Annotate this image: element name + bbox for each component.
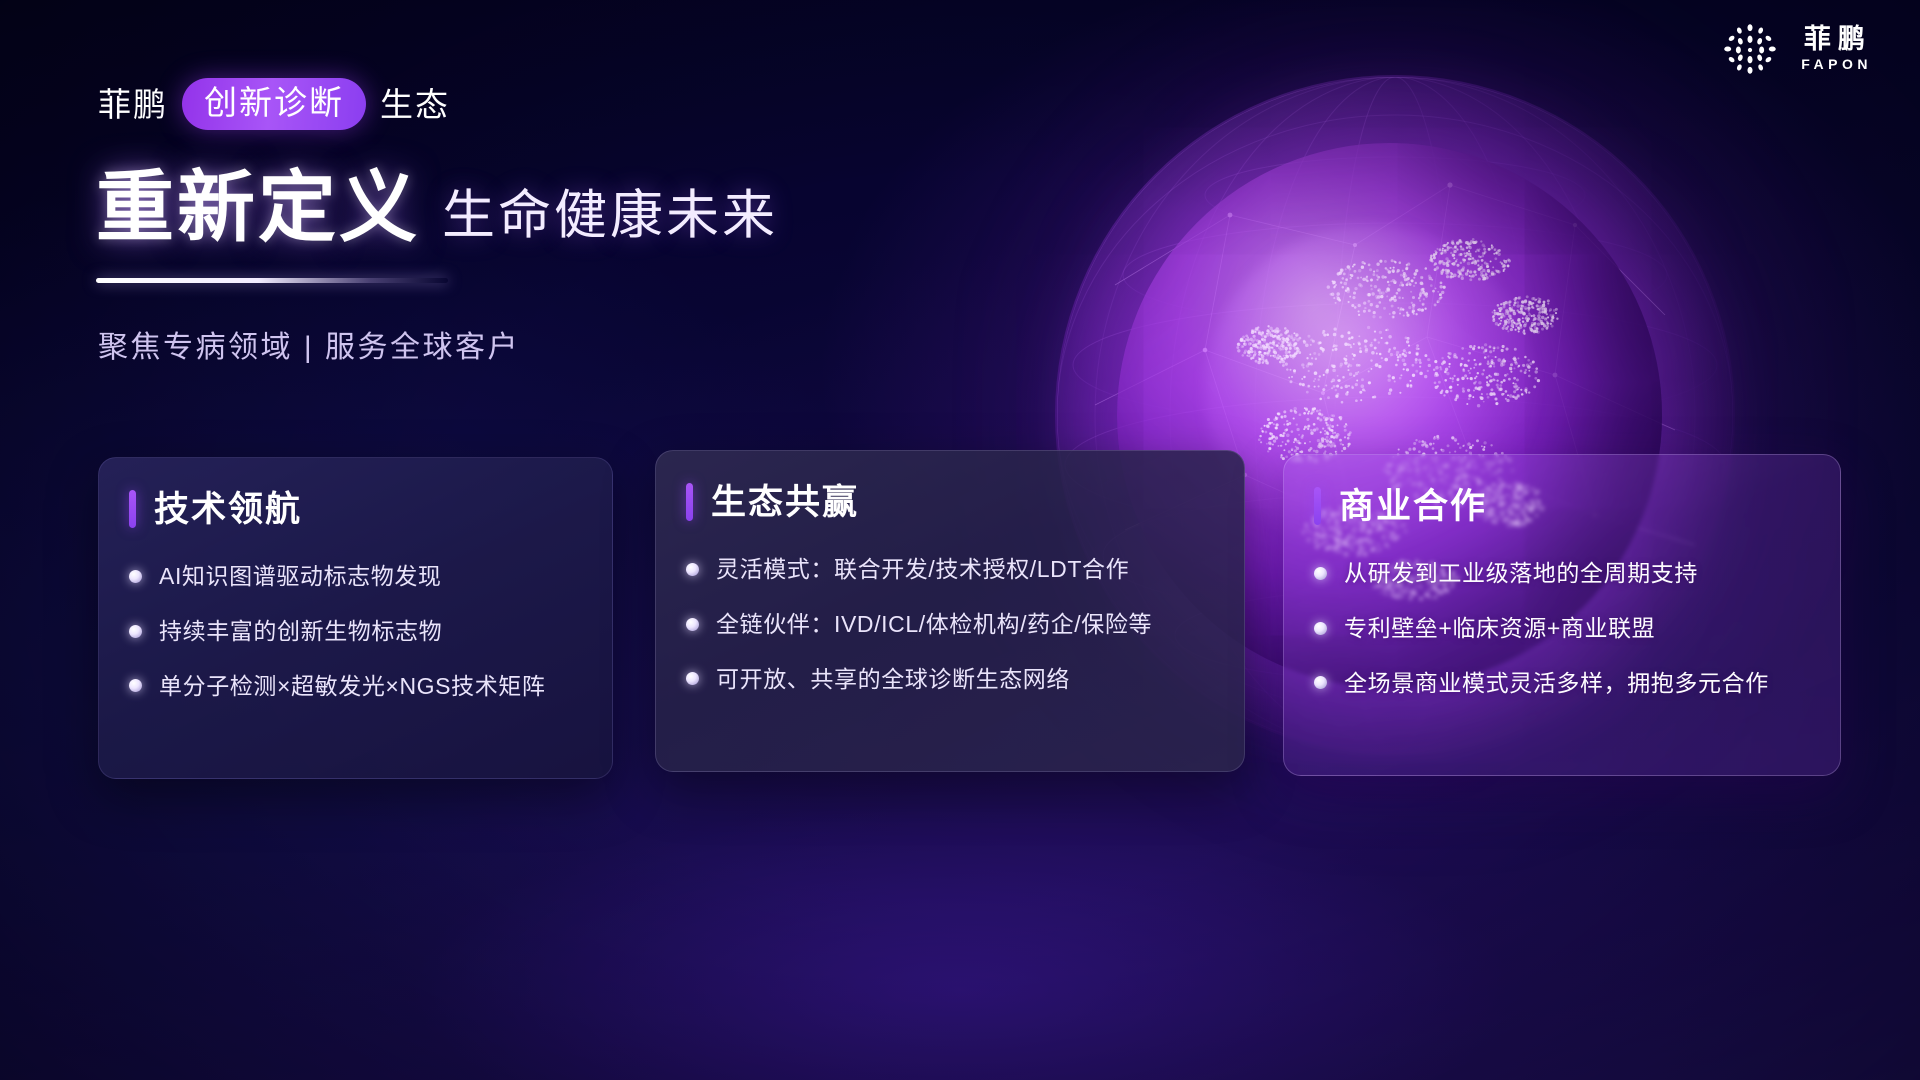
hero-title-underline bbox=[96, 278, 448, 283]
eyebrow-before-text: 菲鹏 bbox=[98, 88, 168, 121]
card-bullet-list: 从研发到工业级落地的全周期支持 专利壁垒+临床资源+商业联盟 全场景商业模式灵活… bbox=[1314, 559, 1810, 697]
brand-name-en: FAPON bbox=[1797, 57, 1872, 72]
dot-sphere-logo-icon bbox=[1719, 18, 1781, 80]
bullet-dot-icon bbox=[129, 570, 142, 583]
bullet-text: 全场景商业模式灵活多样，拥抱多元合作 bbox=[1344, 669, 1769, 698]
bullet-dot-icon bbox=[1314, 676, 1327, 689]
bullet-text: 全链伙伴：IVD/ICL/体检机构/药企/保险等 bbox=[716, 610, 1152, 639]
hero-title-main: 重新定义 bbox=[96, 168, 420, 246]
bullet-dot-icon bbox=[1314, 622, 1327, 635]
hero-title-row: 重新定义 生命健康未来 bbox=[96, 168, 778, 246]
bullet-text: 可开放、共享的全球诊断生态网络 bbox=[716, 665, 1070, 694]
list-item: 全场景商业模式灵活多样，拥抱多元合作 bbox=[1314, 669, 1810, 698]
list-item: 灵活模式：联合开发/技术授权/LDT合作 bbox=[686, 555, 1214, 584]
list-item: 单分子检测×超敏发光×NGS技术矩阵 bbox=[129, 672, 582, 701]
list-item: 从研发到工业级落地的全周期支持 bbox=[1314, 559, 1810, 588]
bullet-text: 专利壁垒+临床资源+商业联盟 bbox=[1344, 614, 1655, 643]
card-header: 生态共赢 bbox=[686, 483, 1214, 521]
bullet-text: AI知识图谱驱动标志物发现 bbox=[159, 562, 442, 591]
bullet-text: 从研发到工业级落地的全周期支持 bbox=[1344, 559, 1698, 588]
bullet-dot-icon bbox=[686, 618, 699, 631]
feature-card-ecosystem[interactable]: 生态共赢 灵活模式：联合开发/技术授权/LDT合作 全链伙伴：IVD/ICL/体… bbox=[655, 450, 1245, 772]
accent-bar-icon bbox=[686, 483, 693, 521]
slide-background: 菲鹏 FAPON 菲鹏 创新诊断 生态 重新定义 生命健康未来 聚焦专病领域 |… bbox=[0, 0, 1920, 1080]
card-title: 生态共赢 bbox=[711, 485, 859, 520]
list-item: 专利壁垒+临床资源+商业联盟 bbox=[1314, 614, 1810, 643]
bullet-text: 灵活模式：联合开发/技术授权/LDT合作 bbox=[716, 555, 1129, 584]
list-item: 持续丰富的创新生物标志物 bbox=[129, 617, 582, 646]
list-item: 全链伙伴：IVD/ICL/体检机构/药企/保险等 bbox=[686, 610, 1214, 639]
bullet-text: 持续丰富的创新生物标志物 bbox=[159, 617, 442, 646]
feature-card-business[interactable]: 商业合作 从研发到工业级落地的全周期支持 专利壁垒+临床资源+商业联盟 全场景商… bbox=[1283, 454, 1841, 776]
accent-bar-icon bbox=[129, 490, 136, 528]
card-header: 技术领航 bbox=[129, 490, 582, 528]
accent-bar-icon bbox=[1314, 487, 1321, 525]
hero-tagline: 聚焦专病领域 | 服务全球客户 bbox=[98, 328, 520, 367]
eyebrow-line: 菲鹏 创新诊断 生态 bbox=[98, 78, 450, 130]
card-title: 商业合作 bbox=[1339, 489, 1487, 524]
brand-name-cn: 菲鹏 bbox=[1797, 25, 1872, 55]
hero-title-sub: 生命健康未来 bbox=[442, 189, 778, 246]
feature-card-technology[interactable]: 技术领航 AI知识图谱驱动标志物发现 持续丰富的创新生物标志物 单分子检测×超敏… bbox=[98, 457, 613, 779]
card-bullet-list: 灵活模式：联合开发/技术授权/LDT合作 全链伙伴：IVD/ICL/体检机构/药… bbox=[686, 555, 1214, 693]
list-item: 可开放、共享的全球诊断生态网络 bbox=[686, 665, 1214, 694]
eyebrow-pill-badge: 创新诊断 bbox=[182, 78, 366, 130]
bullet-dot-icon bbox=[129, 679, 142, 692]
card-header: 商业合作 bbox=[1314, 487, 1810, 525]
bullet-dot-icon bbox=[686, 563, 699, 576]
bullet-dot-icon bbox=[686, 672, 699, 685]
brand-logo-text: 菲鹏 FAPON bbox=[1797, 25, 1872, 72]
card-bullet-list: AI知识图谱驱动标志物发现 持续丰富的创新生物标志物 单分子检测×超敏发光×NG… bbox=[129, 562, 582, 700]
card-title: 技术领航 bbox=[154, 492, 302, 527]
brand-logo: 菲鹏 FAPON bbox=[1719, 18, 1872, 80]
eyebrow-after-text: 生态 bbox=[380, 88, 450, 121]
bullet-text: 单分子检测×超敏发光×NGS技术矩阵 bbox=[159, 672, 546, 701]
bullet-dot-icon bbox=[1314, 567, 1327, 580]
bullet-dot-icon bbox=[129, 625, 142, 638]
list-item: AI知识图谱驱动标志物发现 bbox=[129, 562, 582, 591]
